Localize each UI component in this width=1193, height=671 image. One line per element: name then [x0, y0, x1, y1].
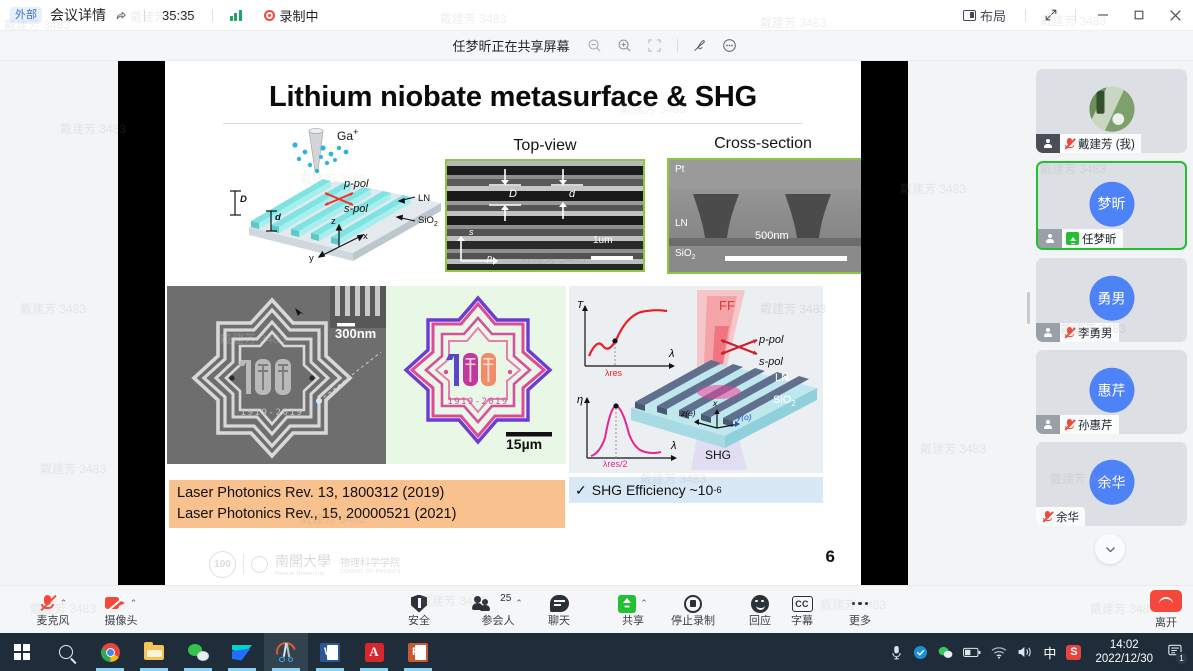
leave-call-icon	[1150, 590, 1182, 612]
avatar	[1089, 87, 1134, 132]
more-label: 更多	[849, 616, 871, 627]
mic-off-icon	[39, 594, 56, 613]
shg-axis-yo: y(o)	[737, 412, 752, 422]
mic-button[interactable]: ⌃ 麦克风	[16, 586, 90, 634]
divider	[677, 39, 678, 52]
chrome-icon[interactable]	[88, 633, 132, 671]
participant-tile-active-speaker[interactable]: 梦昕 任梦昕	[1036, 161, 1187, 250]
participant-count: 25	[500, 593, 511, 604]
shg-axis-T: T	[577, 300, 583, 311]
camera-off-icon	[105, 596, 126, 611]
shg-ff-label: FF	[719, 298, 735, 313]
participant-name: 戴建芳 (我)	[1078, 136, 1135, 152]
feishu-meeting-window: 外部 会议详情 35:35 录制中 布局	[0, 0, 1193, 671]
divider	[1025, 9, 1026, 22]
tray-battery-icon[interactable]	[963, 647, 981, 658]
windows-taskbar: W A P 中 S	[0, 633, 1193, 671]
shg-efficiency-exponent: -6	[713, 485, 721, 496]
mic-muted-icon	[1064, 419, 1075, 431]
university-seal-icon	[251, 556, 268, 573]
shg-axis-lambda-top: λ	[669, 348, 674, 360]
shg-axis-eta: η	[577, 394, 583, 406]
topview-axis-p: p	[487, 253, 492, 263]
zoom-in-icon[interactable]	[614, 35, 636, 57]
chevron-down-icon[interactable]	[1095, 534, 1125, 564]
axis-z-label: z	[331, 216, 336, 227]
dim-d-label: d	[275, 212, 281, 223]
page-title: Lithium niobate metasurface & SHG	[165, 81, 861, 114]
system-tray: 中 S 14:02 2022/12/30 1	[890, 638, 1193, 667]
tray-wechat-icon[interactable]	[938, 646, 953, 659]
stop-record-icon	[684, 595, 702, 613]
dim-D-label: D	[240, 194, 247, 205]
participant-rail[interactable]: 戴建芳 (我) 梦昕 任梦昕 勇男 李勇男	[1024, 61, 1193, 585]
captions-button[interactable]: CC 字幕	[776, 586, 828, 634]
citation-line-2: Laser Photonics Rev., 15, 20000521 (2021…	[177, 504, 557, 525]
search-icon[interactable]	[44, 633, 88, 671]
word-icon[interactable]: W	[308, 633, 352, 671]
captions-label: 字幕	[791, 616, 813, 627]
topview-dim-d: d	[569, 188, 575, 200]
stop-record-button[interactable]: 停止录制	[657, 586, 729, 634]
participant-tile[interactable]: 戴建芳 (我)	[1036, 69, 1187, 153]
divider	[212, 9, 213, 22]
shg-tick-res: λres	[605, 368, 622, 378]
anniversary-icon: 100	[209, 551, 236, 578]
wechat-icon[interactable]	[176, 633, 220, 671]
svg-text:1919-2019: 1919-2019	[240, 408, 303, 418]
ion-source-label: Ga+	[337, 127, 359, 143]
department-name: 物理科学学院 SCHOOL OF PHYSICS	[340, 554, 401, 575]
meeting-details-title: 会议详情	[50, 5, 106, 25]
camera-caret-icon[interactable]: ⌃	[130, 598, 138, 609]
participants-caret-icon[interactable]: ⌃	[515, 598, 523, 609]
avatar: 梦昕	[1089, 181, 1134, 226]
participant-name-badge: 任梦昕	[1038, 229, 1123, 248]
title-bar-right: 布局	[953, 0, 1193, 31]
clock-time: 14:02	[1095, 638, 1153, 652]
record-dot-icon	[264, 10, 275, 21]
notification-count: 1	[1175, 652, 1188, 665]
chat-button[interactable]: 聊天	[533, 586, 585, 634]
crosssection-scalebar-label: 500nm	[755, 230, 789, 242]
shg-ln-label: LN	[775, 372, 789, 384]
close-button[interactable]	[1157, 0, 1193, 31]
layout-label: 布局	[980, 6, 1006, 25]
ln-label: LN	[418, 193, 430, 204]
tray-volume-icon[interactable]	[1017, 645, 1033, 659]
chat-bubble-icon	[550, 595, 569, 612]
emoji-icon	[751, 595, 769, 613]
avatar: 惠芹	[1089, 368, 1134, 413]
participant-tile[interactable]: 余华 余华	[1036, 442, 1187, 526]
crosssection-sem-image: Pt LN SiO2 500nm	[667, 158, 861, 274]
share-arrow-icon[interactable]	[114, 9, 127, 22]
share-screen-icon	[618, 595, 636, 613]
recording-indicator: 录制中	[264, 6, 319, 25]
avatar: 余华	[1089, 460, 1134, 505]
acrobat-icon[interactable]: A	[352, 633, 396, 671]
ime-indicator[interactable]: 中	[1043, 643, 1056, 662]
signal-bars-icon	[230, 9, 242, 21]
optical-emblem-image: 1919-2019 15µm	[386, 286, 566, 464]
reaction-label: 回应	[749, 616, 771, 627]
citation-line-1: Laser Photonics Rev. 13, 1800312 (2019)	[177, 483, 557, 504]
svg-text:1919-2019: 1919-2019	[447, 397, 508, 407]
fit-to-screen-icon[interactable]	[644, 35, 666, 57]
crosssection-ln-label: LN	[675, 218, 688, 229]
maximize-button[interactable]	[1121, 0, 1157, 31]
windows-start-icon[interactable]	[0, 633, 44, 671]
shared-screen-stage[interactable]: Lithium niobate metasurface & SHG	[0, 61, 1024, 585]
shg-axis-x: x	[713, 398, 717, 408]
slide-number: 6	[826, 547, 835, 567]
citation-box: Laser Photonics Rev. 13, 1800312 (2019) …	[169, 480, 565, 528]
snipaste-icon[interactable]	[264, 633, 308, 671]
recording-label: 录制中	[280, 6, 319, 25]
participants-button[interactable]: 25 ⌃ 参会人	[462, 586, 534, 634]
fullscreen-button[interactable]	[1035, 0, 1066, 31]
meeting-toolbar: ⌃ 麦克风 ⌃ 摄像头 安全 25 ⌃ 参会人 聊天	[0, 585, 1193, 633]
share-caret-icon[interactable]: ⌃	[640, 598, 648, 609]
participant-name-badge: 李勇男	[1036, 323, 1119, 342]
sharing-screen-icon	[1066, 232, 1079, 245]
participant-tile[interactable]: 惠芹 孙惠芹	[1036, 350, 1187, 434]
mic-label: 麦克风	[37, 616, 70, 627]
axis-x-label: x	[363, 231, 368, 242]
cc-icon: CC	[792, 596, 813, 612]
camera-button[interactable]: ⌃ 摄像头	[84, 586, 158, 634]
presentation-slide: Lithium niobate metasurface & SHG	[165, 61, 861, 585]
meeting-timer: 35:35	[162, 8, 195, 23]
pen-annotate-icon[interactable]	[689, 35, 711, 57]
crosssection-caption: Cross-section	[665, 135, 861, 153]
university-name: 南開大學 Nankai University	[275, 551, 331, 577]
file-explorer-icon[interactable]	[132, 633, 176, 671]
mic-muted-icon	[1042, 511, 1053, 523]
check-icon: ✓	[575, 482, 587, 499]
participants-label: 参会人	[482, 616, 515, 627]
axis-y-label: y	[309, 253, 314, 264]
security-label: 安全	[408, 616, 430, 627]
participant-tile[interactable]: 勇男 李勇男	[1036, 258, 1187, 342]
taskbar-clock[interactable]: 14:02 2022/12/30	[1091, 638, 1157, 667]
external-badge: 外部	[10, 7, 42, 23]
tray-mic-icon[interactable]	[890, 645, 903, 660]
topview-sem-image: D d s p 1um	[445, 159, 645, 272]
nankai-footer-logo: 100 南開大學 Nankai University 物理科学学院 SCHOOL…	[209, 549, 401, 579]
shg-p-pol-label: p-pol	[759, 334, 783, 346]
rail-scrollbar[interactable]	[1027, 292, 1030, 324]
participant-name: 孙惠芹	[1078, 417, 1113, 433]
user-icon	[1036, 323, 1060, 342]
shg-label: SHG	[705, 448, 731, 462]
leave-label: 离开	[1155, 614, 1177, 630]
shg-mechanism-figure: T λ λres η λ λres/2 FF p-pol s-pol LN Si…	[569, 286, 823, 473]
sem-emblem-image: 1919-2019	[167, 286, 386, 464]
participant-name-badge: 余华	[1036, 507, 1085, 526]
notification-icon[interactable]: 1	[1167, 643, 1183, 661]
share-status-text: 任梦昕正在共享屏幕	[452, 36, 569, 55]
title-bar-left: 外部 会议详情 35:35 录制中	[0, 5, 319, 25]
layout-grid-icon	[963, 10, 976, 21]
participant-name: 李勇男	[1078, 325, 1113, 341]
share-label: 共享	[622, 616, 644, 627]
shg-axis-ze: z(e)	[681, 408, 696, 418]
chat-label: 聊天	[548, 616, 570, 627]
powerpoint-icon[interactable]: P	[396, 633, 440, 671]
minimize-button[interactable]	[1085, 0, 1121, 31]
mic-caret-icon[interactable]: ⌃	[60, 598, 68, 609]
stop-record-label: 停止录制	[671, 616, 715, 627]
mic-muted-icon	[1064, 327, 1075, 339]
tray-wifi-icon[interactable]	[991, 646, 1007, 659]
leave-button[interactable]: 离开	[1150, 586, 1182, 634]
shg-sio2-label: SiO2	[773, 394, 796, 408]
people-icon	[473, 595, 497, 613]
feishu-icon[interactable]	[220, 633, 264, 671]
sem-scalebar-label: 300nm	[335, 326, 376, 341]
user-icon	[1038, 229, 1062, 248]
user-icon	[1036, 415, 1060, 434]
user-icon	[1036, 134, 1060, 153]
participant-name: 任梦昕	[1082, 231, 1117, 247]
participant-name-badge: 戴建芳 (我)	[1036, 134, 1141, 153]
shg-axis-lambda-bottom: λ	[671, 440, 676, 452]
participant-name: 余华	[1056, 509, 1079, 525]
topview-axis-s: s	[469, 227, 474, 237]
topview-caption: Top-view	[441, 137, 649, 155]
shield-icon	[411, 595, 427, 613]
fib-schematic-figure: Ga+ p-pol s-pol LN SiO2 D d z x y	[227, 123, 459, 271]
title-bar: 外部 会议详情 35:35 录制中 布局	[0, 0, 1193, 31]
crosssection-sio2-label: SiO2	[675, 248, 696, 261]
slide-letterbox: Lithium niobate metasurface & SHG	[118, 61, 908, 585]
zoom-out-icon[interactable]	[584, 35, 606, 57]
participant-name-badge: 孙惠芹	[1036, 415, 1119, 434]
optical-scalebar-label: 15µm	[506, 436, 542, 452]
tray-update-icon[interactable]	[913, 645, 928, 660]
security-button[interactable]: 安全	[393, 586, 445, 634]
shg-efficiency-text: SHG Efficiency ~10	[592, 482, 714, 498]
clock-date: 2022/12/30	[1095, 652, 1153, 666]
p-pol-label: p-pol	[344, 178, 368, 190]
avatar: 勇男	[1089, 276, 1134, 321]
shg-s-pol-label: s-pol	[759, 356, 783, 368]
more-circle-icon[interactable]	[719, 35, 741, 57]
divider	[1075, 9, 1076, 22]
shg-efficiency-note: ✓ SHG Efficiency ~10-6	[569, 477, 823, 503]
share-status-bar: 任梦昕正在共享屏幕	[0, 31, 1193, 61]
crosssection-pt-label: Pt	[675, 164, 684, 175]
mic-muted-icon	[1064, 138, 1075, 150]
more-button[interactable]: 更多	[834, 586, 886, 634]
topview-dim-D: D	[509, 188, 517, 200]
topview-scalebar-label: 1um	[593, 235, 612, 246]
sio2-label: SiO2	[418, 215, 438, 228]
divider	[243, 554, 244, 574]
ellipsis-icon	[852, 602, 869, 606]
sogou-ime-icon[interactable]: S	[1066, 645, 1081, 660]
camera-label: 摄像头	[105, 616, 138, 627]
layout-button[interactable]: 布局	[953, 0, 1016, 31]
divider	[144, 9, 145, 22]
shg-tick-res-half: λres/2	[603, 459, 628, 469]
s-pol-label: s-pol	[344, 203, 368, 215]
